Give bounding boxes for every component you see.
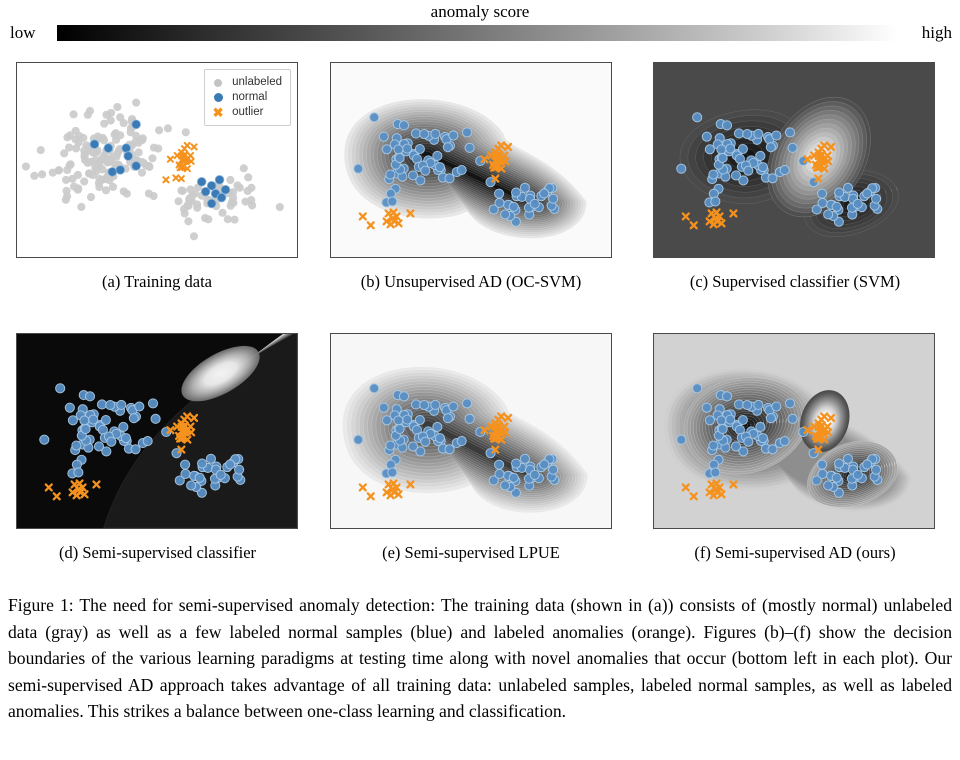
colorbar-low-label: low <box>10 23 36 43</box>
panel-e-semi-supervised-lpue <box>330 333 612 529</box>
outlier-marker-icon: ✖ <box>211 106 225 119</box>
panel-f-semi-supervised-ad-ours <box>653 333 935 529</box>
panel-d-svg <box>17 334 297 528</box>
panel-a-training-data: unlabeled normal ✖ outlier <box>16 62 298 258</box>
colorbar: low high <box>0 22 960 46</box>
figure-caption: Figure 1: The need for semi-supervised a… <box>8 592 952 725</box>
panel-c-supervised-classifier <box>653 62 935 258</box>
legend-label-unlabeled: unlabeled <box>232 75 282 91</box>
panel-c-svg <box>654 63 934 257</box>
panel-b-plot <box>331 63 611 257</box>
legend-label-normal: normal <box>232 90 267 106</box>
figure-root: anomaly score low high <box>0 0 960 760</box>
panel-f-plot <box>654 334 934 528</box>
normal-marker-icon <box>211 93 225 102</box>
panel-d-plot <box>17 334 297 528</box>
legend-item-normal: normal <box>211 90 282 105</box>
panel-b-svg <box>331 63 611 257</box>
colorbar-high-label: high <box>922 23 952 43</box>
panel-a-caption: (a) Training data <box>16 272 298 292</box>
colorbar-gradient <box>57 25 897 41</box>
legend-label-outlier: outlier <box>232 105 263 121</box>
panel-c-caption: (c) Supervised classifier (SVM) <box>640 272 950 292</box>
legend-item-outlier: ✖ outlier <box>211 105 282 120</box>
panel-e-plot <box>331 334 611 528</box>
panel-e-caption: (e) Semi-supervised LPUE <box>330 543 612 563</box>
panel-d-semi-supervised-classifier <box>16 333 298 529</box>
legend-item-unlabeled: unlabeled <box>211 75 282 90</box>
panel-b-caption: (b) Unsupervised AD (OC-SVM) <box>316 272 626 292</box>
panel-c-plot <box>654 63 934 257</box>
legend: unlabeled normal ✖ outlier <box>204 69 291 126</box>
panel-b-unsupervised-ad <box>330 62 612 258</box>
panel-d-caption: (d) Semi-supervised classifier <box>10 543 305 563</box>
panel-f-caption: (f) Semi-supervised AD (ours) <box>645 543 945 563</box>
panel-e-svg <box>331 334 611 528</box>
panel-f-svg <box>654 334 934 528</box>
colorbar-title: anomaly score <box>0 2 960 22</box>
unlabeled-marker-icon <box>211 79 225 87</box>
